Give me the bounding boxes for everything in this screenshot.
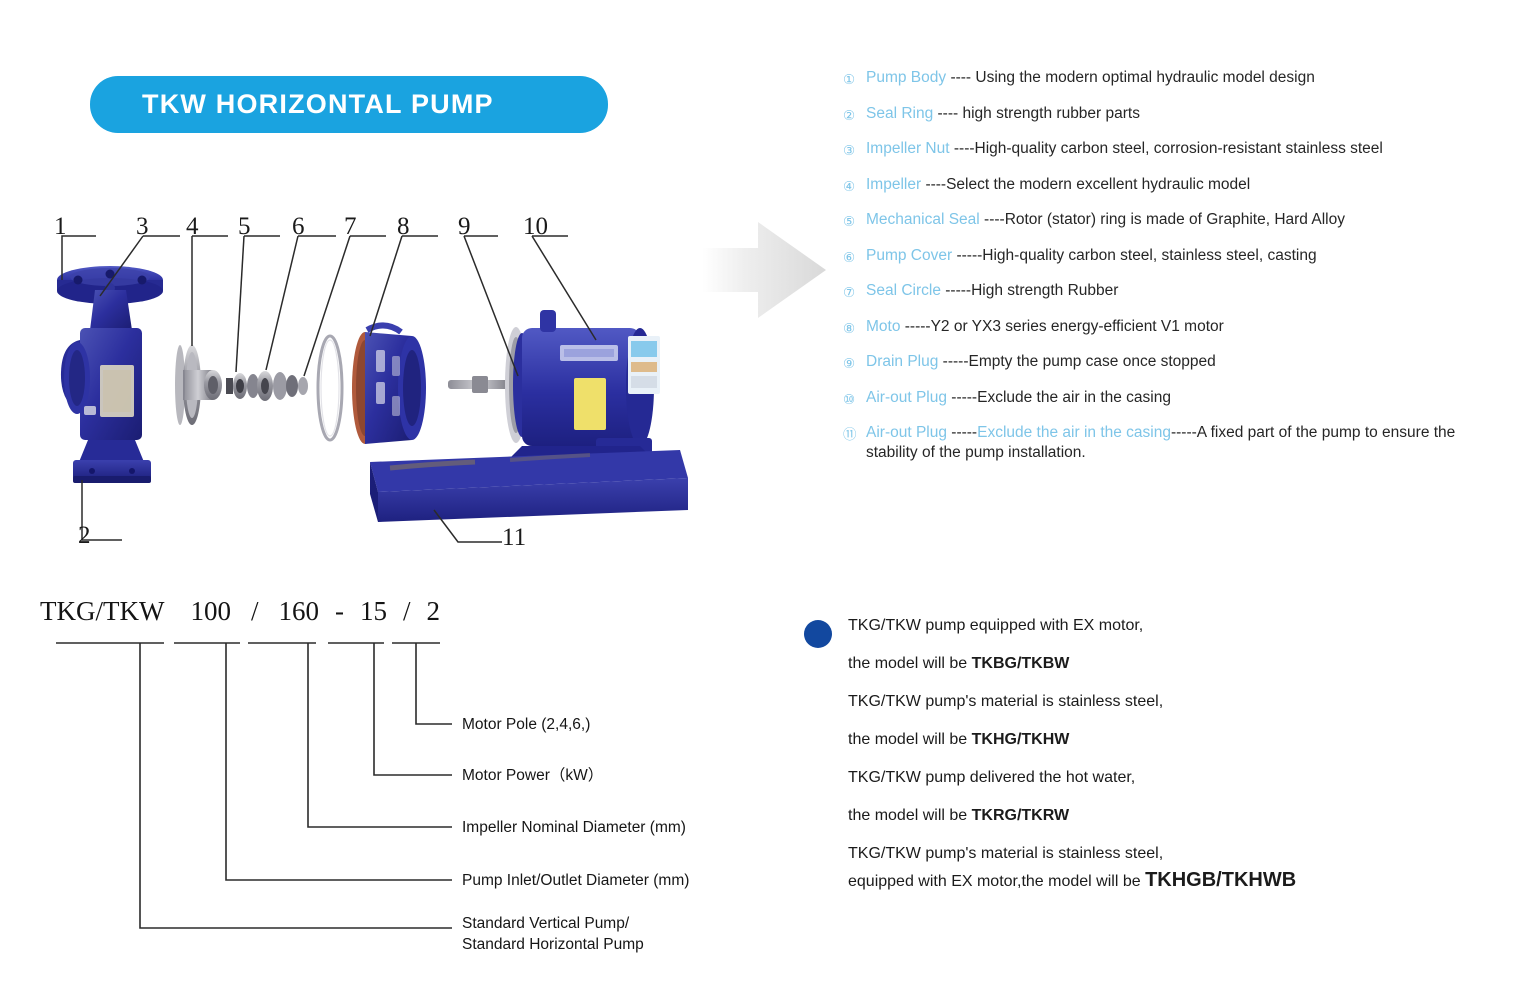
note-model-code: TKHG/TKHW	[972, 731, 1070, 748]
note-text: TKG/TKW pump's material is stainless ste…	[848, 845, 1163, 862]
legend-part-name: Mechanical Seal	[866, 211, 980, 228]
legend-dash: -----	[938, 353, 968, 370]
legend-description: high strength rubber parts	[962, 105, 1140, 122]
pump-body-part	[57, 266, 163, 483]
legend-item-11: ⑪ Air-out Plug -----Exclude the air in t…	[843, 423, 1503, 463]
note-text: TKG/TKW pump delivered the hot water,	[848, 769, 1135, 786]
legend-description: High strength Rubber	[971, 282, 1118, 299]
base-plate-part	[370, 450, 688, 522]
note-text: the model will be	[848, 807, 972, 824]
bullet-icon	[804, 620, 832, 648]
legend-part-name: Impeller Nut	[866, 140, 950, 157]
legend-item-3: ③ Impeller Nut ----High-quality carbon s…	[843, 139, 1503, 161]
seal-circle-part	[318, 336, 342, 440]
note-model-code: TKBG/TKBW	[972, 655, 1070, 672]
note-line-2: the model will be TKBG/TKBW	[848, 654, 1444, 674]
model-code-breakdown: TKG/TKW100/160-15/2 Motor Pole (2,4,6,) …	[40, 596, 740, 966]
legend-part-name: Impeller	[866, 176, 921, 193]
note-line-1: TKG/TKW pump equipped with EX motor,	[848, 616, 1444, 636]
legend-item-10: ⑩ Air-out Plug -----Exclude the air in t…	[843, 388, 1503, 410]
legend-item-4: ④ Impeller ----Select the modern excelle…	[843, 175, 1503, 197]
callout-number-5: 5	[238, 213, 251, 241]
legend-part-name: Drain Plug	[866, 353, 938, 370]
callout-number-3: 3	[136, 213, 149, 241]
label-standard-horizontal-pump: Standard Horizontal Pump	[462, 934, 644, 955]
legend-number-icon: ⑪	[843, 423, 866, 445]
legend-description: High-quality carbon steel, stainless ste…	[982, 247, 1316, 264]
model-leader-lines	[40, 596, 740, 966]
parts-legend: ① Pump Body ---- Using the modern optima…	[843, 68, 1503, 477]
legend-number-icon: ①	[843, 68, 866, 90]
label-standard-vertical-pump: Standard Vertical Pump/	[462, 913, 629, 934]
legend-part-name: Seal Circle	[866, 282, 941, 299]
legend-number-icon: ⑨	[843, 352, 866, 374]
legend-item-1: ① Pump Body ---- Using the modern optima…	[843, 68, 1503, 90]
legend-number-icon: ⑤	[843, 210, 866, 232]
legend-number-icon: ③	[843, 139, 866, 161]
flow-arrow	[700, 218, 830, 323]
legend-dash: -----	[952, 247, 982, 264]
callout-number-11: 11	[502, 524, 526, 552]
callout-number-7: 7	[344, 213, 357, 241]
note-line-6: the model will be TKRG/TKRW	[848, 806, 1444, 826]
note-line-8: equipped with EX motor,the model will be…	[848, 870, 1444, 892]
legend-dash: -----	[900, 318, 930, 335]
callout-number-1: 1	[54, 213, 67, 241]
legend-dash: -----	[941, 282, 971, 299]
legend-part-name: Pump Body	[866, 69, 946, 86]
legend-item-8: ⑧ Moto -----Y2 or YX3 series energy-effi…	[843, 317, 1503, 339]
callout-number-9: 9	[458, 213, 471, 241]
legend-part-name: Moto	[866, 318, 900, 335]
page-title: TKW HORIZONTAL PUMP	[90, 89, 494, 120]
mechanical-seal-parts	[226, 371, 308, 401]
legend-description: High-quality carbon steel, corrosion-res…	[975, 140, 1383, 157]
legend-part-name: Seal Ring	[866, 105, 933, 122]
legend-dash: ----	[933, 105, 962, 122]
legend-number-icon: ⑩	[843, 388, 866, 410]
legend-number-icon: ②	[843, 104, 866, 126]
legend-number-icon: ⑧	[843, 317, 866, 339]
legend-dash: ----	[950, 140, 975, 157]
note-line-3: TKG/TKW pump's material is stainless ste…	[848, 692, 1444, 712]
legend-description: Rotor (stator) ring is made of Graphite,…	[1005, 211, 1345, 228]
note-text: the model will be	[848, 655, 972, 672]
callout-number-8: 8	[397, 213, 410, 241]
right-arrow-icon	[700, 218, 830, 323]
label-impeller-diameter: Impeller Nominal Diameter (mm)	[462, 817, 686, 838]
legend-dash: -----	[947, 424, 977, 441]
legend-part-name: Air-out Plug	[866, 389, 947, 406]
pump-illustration	[40, 210, 730, 570]
legend-part-name: Air-out Plug	[866, 424, 947, 441]
note-text: TKG/TKW pump's material is stainless ste…	[848, 693, 1163, 710]
note-model-code: TKRG/TKRW	[972, 807, 1069, 824]
callout-number-2: 2	[78, 522, 91, 550]
legend-dash: ----	[980, 211, 1005, 228]
note-model-code: TKHGB/TKHWB	[1145, 869, 1296, 891]
legend-dash-2: -----	[1171, 424, 1197, 441]
note-text: TKG/TKW pump equipped with EX motor,	[848, 617, 1143, 634]
impeller-part	[175, 345, 222, 425]
legend-description: Exclude the air in the casing	[977, 389, 1171, 406]
note-line-4: the model will be TKHG/TKHW	[848, 730, 1444, 750]
legend-description: Empty the pump case once stopped	[969, 353, 1216, 370]
note-text: equipped with EX motor,the model will be	[848, 873, 1145, 890]
legend-number-icon: ⑥	[843, 246, 866, 268]
legend-part-name: Pump Cover	[866, 247, 952, 264]
legend-number-icon: ⑦	[843, 281, 866, 303]
legend-dash: ----	[946, 69, 975, 86]
title-banner: TKW HORIZONTAL PUMP	[90, 76, 608, 133]
legend-item-6: ⑥ Pump Cover -----High-quality carbon st…	[843, 246, 1503, 268]
label-motor-power: Motor Power（kW）	[462, 765, 603, 786]
legend-description: Using the modern optimal hydraulic model…	[975, 69, 1314, 86]
legend-item-5: ⑤ Mechanical Seal ----Rotor (stator) rin…	[843, 210, 1503, 232]
legend-item-2: ② Seal Ring ---- high strength rubber pa…	[843, 104, 1503, 126]
product-spec-page: TKW HORIZONTAL PUMP	[0, 0, 1513, 1000]
callout-number-4: 4	[186, 213, 199, 241]
legend-sub-description: Exclude the air in the casing	[977, 424, 1171, 441]
callout-number-6: 6	[292, 213, 305, 241]
label-motor-pole: Motor Pole (2,4,6,)	[462, 714, 590, 735]
motor-part	[448, 310, 660, 458]
model-variant-notes: TKG/TKW pump equipped with EX motor, the…	[804, 616, 1444, 910]
legend-description: Y2 or YX3 series energy-efficient V1 mot…	[931, 318, 1224, 335]
legend-number-icon: ④	[843, 175, 866, 197]
legend-description: Select the modern excellent hydraulic mo…	[946, 176, 1250, 193]
note-text: the model will be	[848, 731, 972, 748]
note-line-7: TKG/TKW pump's material is stainless ste…	[848, 844, 1444, 864]
legend-dash: -----	[947, 389, 977, 406]
legend-item-7: ⑦ Seal Circle -----High strength Rubber	[843, 281, 1503, 303]
legend-item-9: ⑨ Drain Plug -----Empty the pump case on…	[843, 352, 1503, 374]
exploded-pump-diagram: 1 3 4 5 6 7 8 9 10 2 11	[40, 210, 730, 570]
callout-number-10: 10	[523, 213, 548, 241]
pump-cover-part	[352, 325, 426, 444]
note-line-5: TKG/TKW pump delivered the hot water,	[848, 768, 1444, 788]
label-inlet-outlet-diameter: Pump Inlet/Outlet Diameter (mm)	[462, 870, 689, 891]
legend-dash: ----	[921, 176, 946, 193]
